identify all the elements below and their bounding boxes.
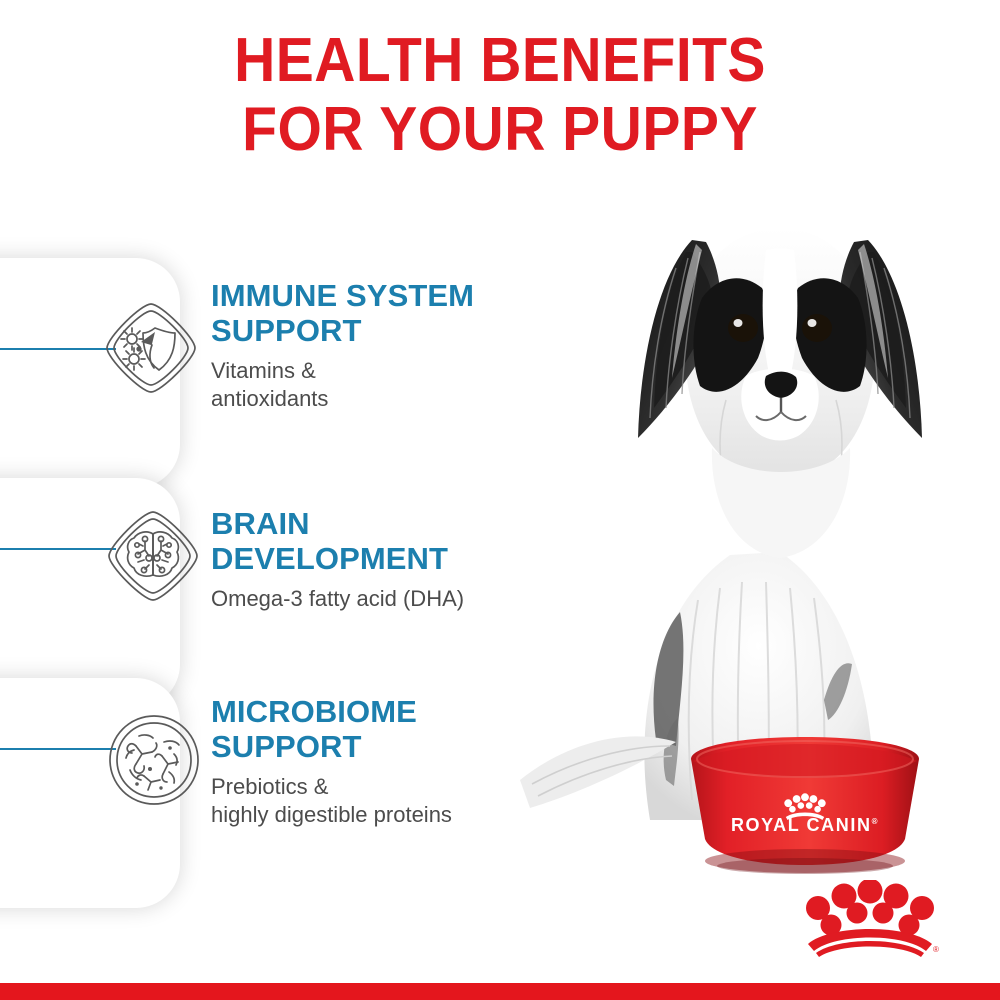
benefit-title-immune: IMMUNE SYSTEM SUPPORT (211, 278, 531, 348)
brain-icon (105, 508, 201, 604)
benefit-text-immune: IMMUNE SYSTEM SUPPORT Vitamins & antioxi… (211, 278, 531, 413)
royal-canin-crown-logo: ® (800, 880, 940, 958)
page-title-line-2: FOR YOUR PUPPY (40, 95, 960, 164)
food-bowl: ROYAL CANIN® (645, 735, 965, 875)
benefit-title-brain: BRAIN DEVELOPMENT (211, 506, 531, 576)
infographic-canvas: HEALTH BENEFITS FOR YOUR PUPPY (0, 0, 1000, 1000)
connector-line-brain (0, 548, 116, 550)
papillon-puppy-photo (480, 180, 1000, 820)
benefit-title-microbiome: MICROBIOME SUPPORT (211, 694, 531, 764)
benefit-subtitle-immune: Vitamins & antioxidants (211, 357, 531, 413)
immune-shield-icon (103, 300, 199, 396)
page-title-line-1: HEALTH BENEFITS (40, 26, 960, 95)
microbiome-bacteria-icon (106, 712, 202, 808)
benefit-subtitle-brain: Omega-3 fatty acid (DHA) (211, 585, 531, 613)
benefit-text-brain: BRAIN DEVELOPMENT Omega-3 fatty acid (DH… (211, 506, 531, 613)
bottom-red-bar (0, 983, 1000, 1000)
connector-line-microbiome (0, 748, 116, 750)
benefit-text-microbiome: MICROBIOME SUPPORT Prebiotics & highly d… (211, 694, 531, 829)
connector-line-immune (0, 348, 116, 350)
logo-trademark: ® (933, 945, 939, 954)
benefit-subtitle-microbiome: Prebiotics & highly digestible proteins (211, 773, 531, 829)
page-title: HEALTH BENEFITS FOR YOUR PUPPY (40, 26, 960, 165)
